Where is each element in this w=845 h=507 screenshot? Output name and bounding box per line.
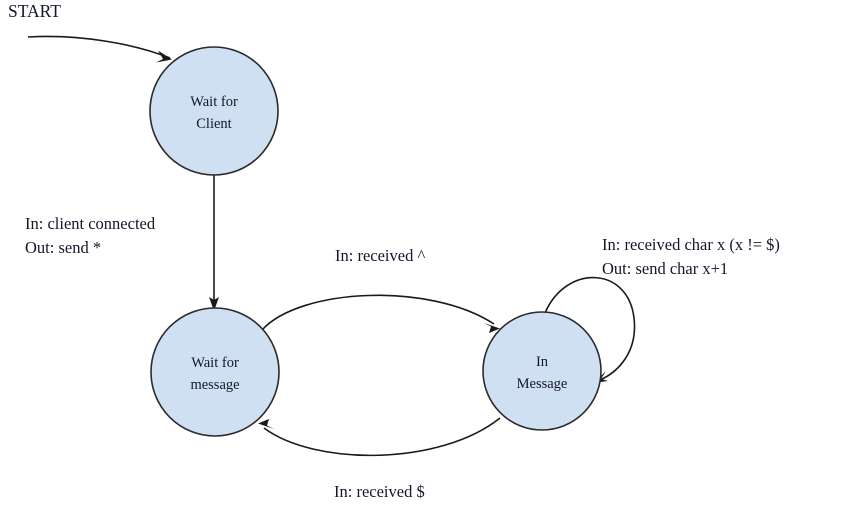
received-caret-path <box>262 295 494 330</box>
state-wait-for-message-label-line2: message <box>190 377 239 393</box>
state-in-message-label-line1: In <box>536 354 549 370</box>
edge-label-client-connected-line1: In: client connected <box>25 214 156 233</box>
diagram-canvas: Wait for Client Wait for message In Mess… <box>0 0 845 507</box>
edge-label-received-caret: In: received ^ <box>335 246 425 265</box>
edge-label-received-char-line1: In: received char x (x != $) <box>602 235 780 254</box>
received-dollar-path <box>264 418 500 455</box>
start-arrow-path <box>28 36 170 58</box>
transition-received-caret <box>262 295 500 333</box>
state-in-message-shape[interactable] <box>483 312 601 430</box>
received-dollar-arrow-head <box>258 419 274 429</box>
transition-client-connected <box>209 175 219 311</box>
state-wait-for-client[interactable]: Wait for Client <box>150 47 278 175</box>
state-in-message[interactable]: In Message <box>483 312 601 430</box>
state-wait-for-message-shape[interactable] <box>151 308 279 436</box>
transition-start-to-wait-for-client <box>28 36 172 62</box>
state-machine-diagram: Wait for Client Wait for message In Mess… <box>0 0 845 507</box>
state-in-message-label-line2: Message <box>517 376 568 392</box>
state-wait-for-client-shape[interactable] <box>150 47 278 175</box>
state-wait-for-client-label-line2: Client <box>196 116 231 132</box>
start-label: START <box>8 1 61 21</box>
state-wait-for-client-label-line1: Wait for <box>190 94 238 110</box>
transition-received-dollar <box>258 418 500 455</box>
edge-label-received-dollar: In: received $ <box>334 482 425 501</box>
edge-label-client-connected-line2: Out: send * <box>25 238 101 257</box>
state-wait-for-message-label-line1: Wait for <box>191 355 239 371</box>
start-arrow-head <box>156 51 172 63</box>
state-wait-for-message[interactable]: Wait for message <box>151 308 279 436</box>
edge-label-received-char-line2: Out: send char x+1 <box>602 259 728 278</box>
